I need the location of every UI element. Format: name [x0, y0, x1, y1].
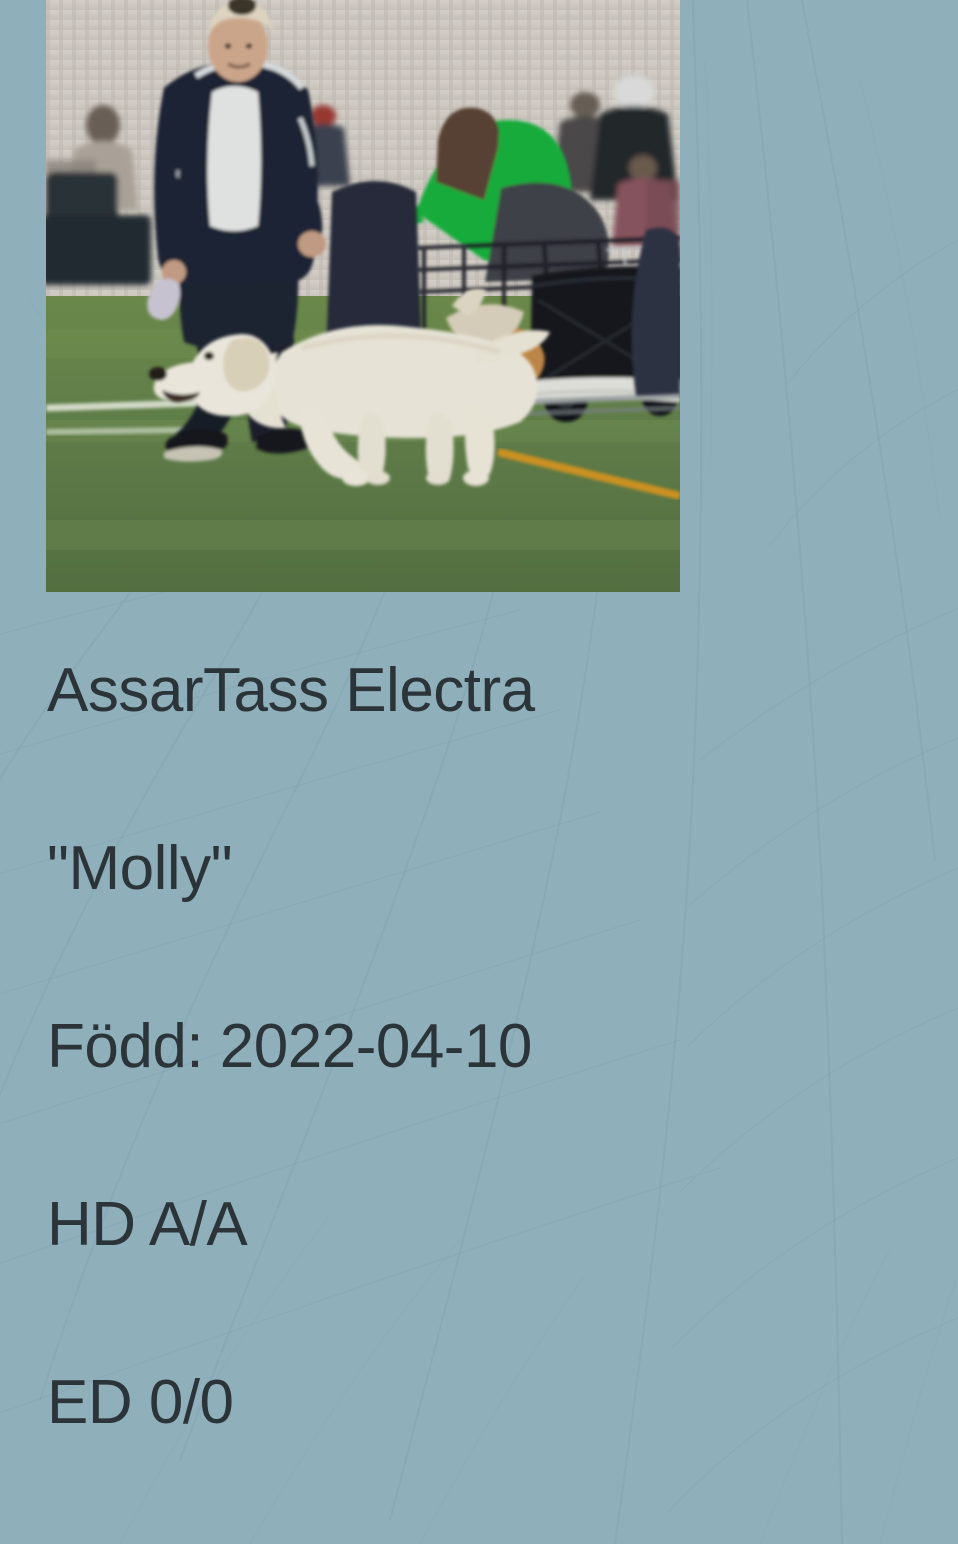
dog-birth-date: Född: 2022-04-10 — [47, 1016, 907, 1078]
dog-registered-name: AssarTass Electra — [47, 660, 907, 722]
dog-photo — [46, 0, 680, 592]
dog-photo-illustration — [46, 0, 680, 592]
dog-hd-result: HD A/A — [47, 1194, 907, 1256]
dog-info-block: AssarTass Electra "Molly" Född: 2022-04-… — [47, 660, 907, 1434]
dog-ed-result: ED 0/0 — [47, 1372, 907, 1434]
dog-call-name: "Molly" — [47, 838, 907, 900]
